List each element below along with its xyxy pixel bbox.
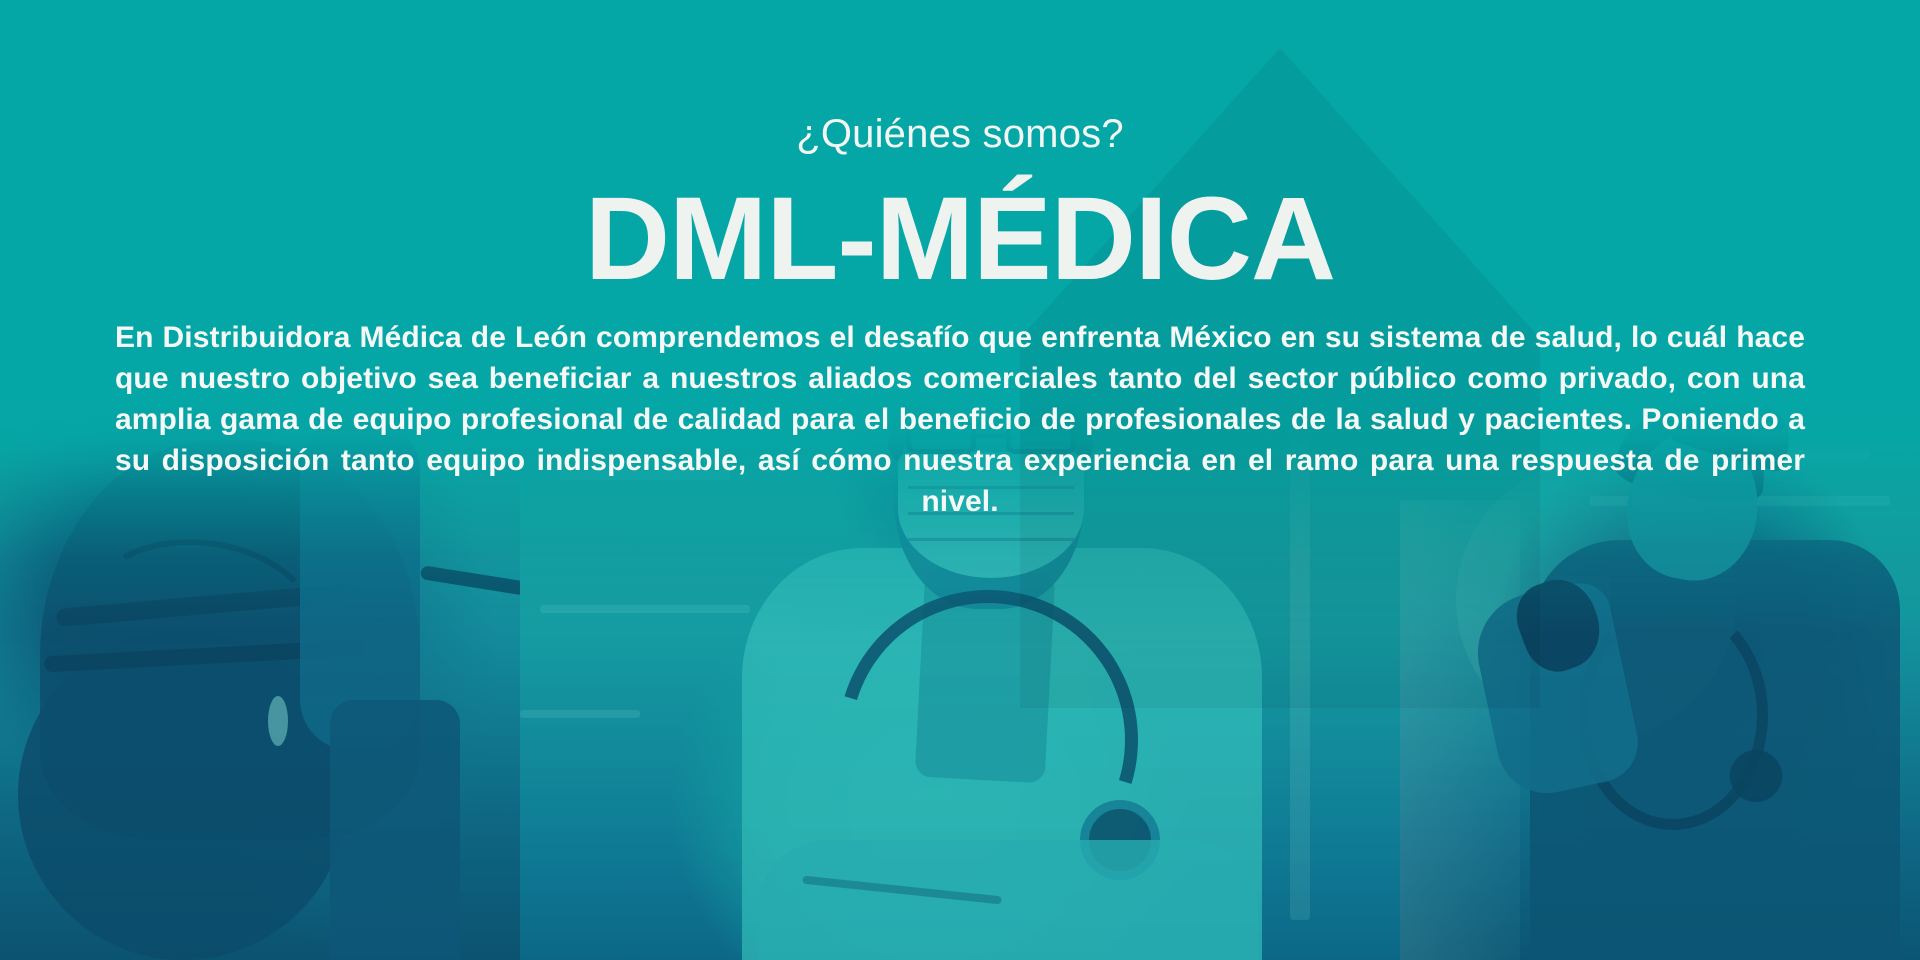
doctor-crossed-arms [758,840,1258,960]
hero-eyebrow: ¿Quiénes somos? [0,112,1920,156]
rescue-leg [330,700,460,960]
mask-pleat-3 [908,538,1074,541]
clinic-shelf-3 [520,710,640,718]
page-title: DML-MÉDICA [0,178,1920,301]
rescue-tool-glint [268,696,288,746]
hero-body-copy: En Distribuidora Médica de León comprend… [115,317,1805,522]
clinic-shelf-2 [540,605,750,613]
hero-banner: ¿Quiénes somos? DML-MÉDICA En Distribuid… [0,0,1920,960]
hero-content: ¿Quiénes somos? DML-MÉDICA En Distribuid… [0,0,1920,522]
nurse-stethoscope-bell [1730,750,1782,802]
